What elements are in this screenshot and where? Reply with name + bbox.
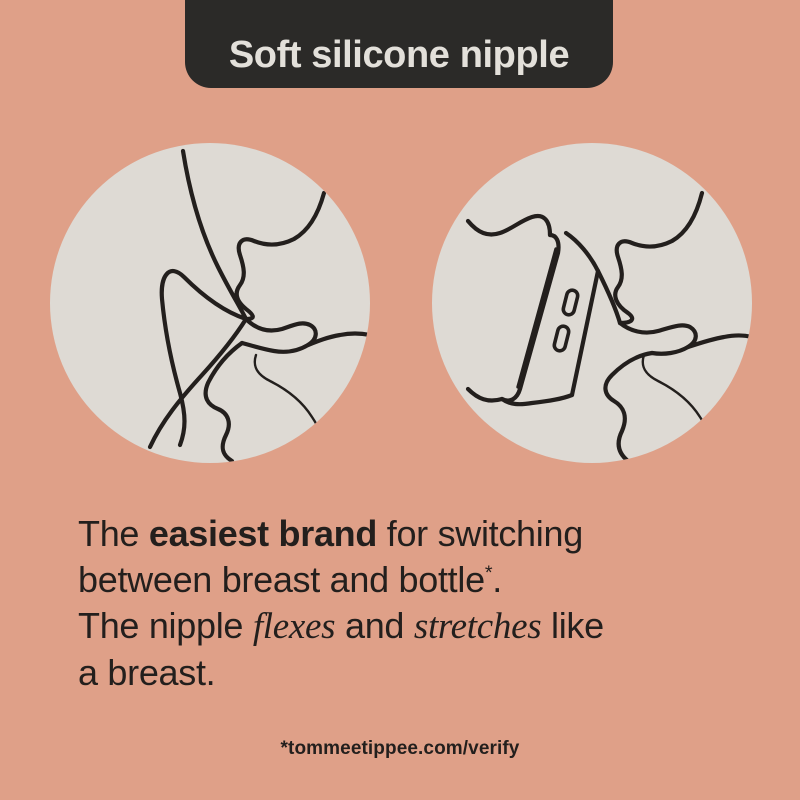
header-banner: Soft silicone nipple xyxy=(185,0,613,88)
copy-text: . xyxy=(492,559,502,600)
copy-text: The nipple xyxy=(78,605,253,646)
copy-text: The xyxy=(78,513,149,554)
copy-emphasis: easiest brand xyxy=(149,513,377,554)
baby-bottle-feeding-illustration xyxy=(432,143,752,463)
copy-text: for switching xyxy=(377,513,583,554)
illustration-row xyxy=(0,143,800,465)
copy-text: and xyxy=(335,605,414,646)
page-title: Soft silicone nipple xyxy=(229,36,569,74)
copy-text: between breast and bottle xyxy=(78,559,485,600)
body-copy: The easiest brand for switching between … xyxy=(78,511,738,696)
promo-card: Soft silicone nipple xyxy=(0,0,800,800)
copy-line-1: The easiest brand for switching xyxy=(78,511,738,557)
copy-text: like xyxy=(541,605,604,646)
baby-breastfeeding-illustration xyxy=(50,143,370,463)
copy-line-2: between breast and bottle*. xyxy=(78,557,738,603)
copy-line-4: a breast. xyxy=(78,650,738,696)
footnote-url: *tommeetippee.com/verify xyxy=(0,738,800,760)
copy-italic-stretches: stretches xyxy=(414,606,541,647)
copy-italic-flexes: flexes xyxy=(253,606,335,647)
copy-line-3: The nipple flexes and stretches like xyxy=(78,603,738,650)
